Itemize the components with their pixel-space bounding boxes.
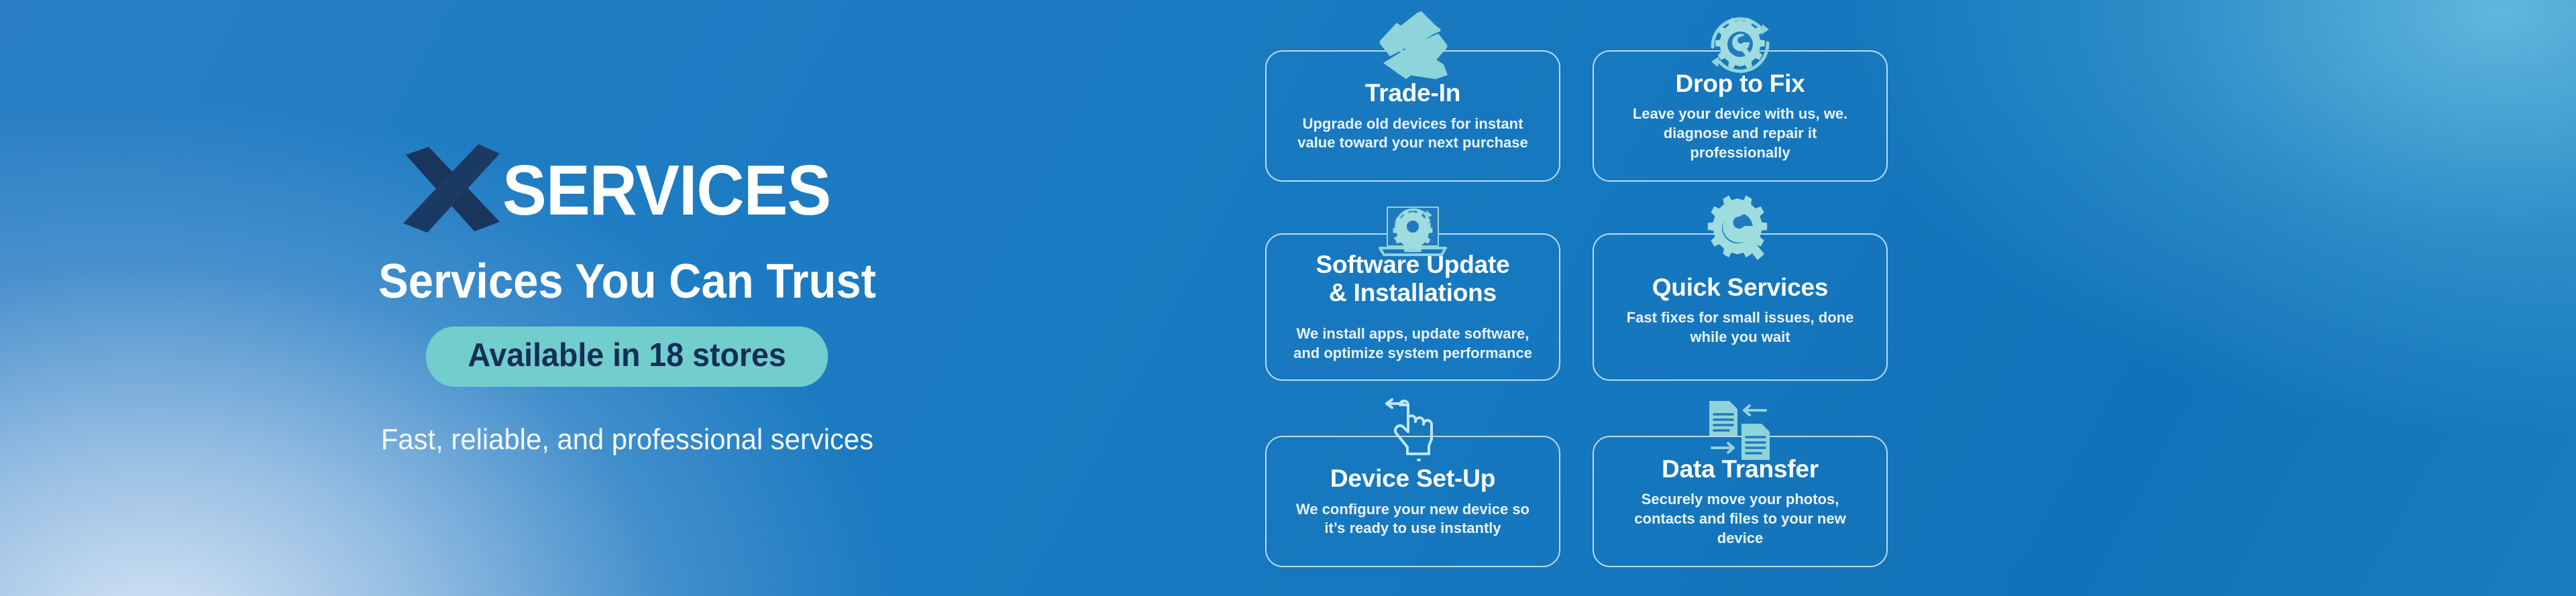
icon-backdrop-data-transfer xyxy=(1695,433,1786,440)
card-description: Upgrade old devices for instant value to… xyxy=(1287,115,1539,153)
services-card-grid: Trade-In Upgrade old devices for instant… xyxy=(1261,0,2576,596)
page-title: Services You Can Trust xyxy=(44,257,1210,306)
status-badge: Available in 18 stores xyxy=(426,326,828,387)
card-title: Software Update & Installations xyxy=(1316,251,1510,306)
card-description: We configure your new device so it’s rea… xyxy=(1287,500,1539,538)
card-content: Quick Services Fast fixes for small issu… xyxy=(1594,235,1886,379)
card-description: Securely move your photos, contacts and … xyxy=(1614,490,1866,548)
icon-backdrop-drop-to-fix xyxy=(1695,48,1786,54)
card-title-line-1: Software Update xyxy=(1316,251,1510,278)
card-title: Device Set-Up xyxy=(1330,465,1495,492)
card-description: We install apps, update software, and op… xyxy=(1287,324,1539,363)
icon-backdrop-device-setup xyxy=(1367,433,1458,440)
service-card-trade-in[interactable]: Trade-In Upgrade old devices for instant… xyxy=(1265,50,1560,182)
hero-panel: SERVICES Services You Can Trust Availabl… xyxy=(0,0,1254,596)
card-description: Leave your device with us, we. diagnose … xyxy=(1614,105,1866,162)
card-title: Quick Services xyxy=(1652,274,1829,301)
icon-backdrop-quick-services xyxy=(1695,231,1786,237)
card-content: Trade-In Upgrade old devices for instant… xyxy=(1267,52,1559,180)
page-subtitle: Fast, reliable, and professional service… xyxy=(32,425,1224,455)
card-title: Trade-In xyxy=(1365,79,1460,107)
card-title-line-2: & Installations xyxy=(1316,279,1510,306)
card-content: Drop to Fix Leave your device with us, w… xyxy=(1594,52,1886,180)
service-card-software-update[interactable]: Software Update & Installations We insta… xyxy=(1265,233,1560,381)
service-card-drop-to-fix[interactable]: Drop to Fix Leave your device with us, w… xyxy=(1593,50,1888,182)
availability-badge-wrap: Available in 18 stores xyxy=(0,326,1254,387)
brand-logo: SERVICES xyxy=(0,142,1254,233)
brand-wordmark: SERVICES xyxy=(502,155,830,226)
card-content: Data Transfer Securely move your photos,… xyxy=(1594,437,1886,566)
service-card-data-transfer[interactable]: Data Transfer Securely move your photos,… xyxy=(1593,436,1888,567)
x-mark-logo-icon xyxy=(399,137,506,238)
icon-backdrop-software-update xyxy=(1367,231,1458,237)
service-card-device-setup[interactable]: Device Set-Up We configure your new devi… xyxy=(1265,436,1560,567)
service-card-quick-services[interactable]: Quick Services Fast fixes for small issu… xyxy=(1593,233,1888,381)
card-content: Software Update & Installations We insta… xyxy=(1267,235,1559,379)
services-banner: SERVICES Services You Can Trust Availabl… xyxy=(0,0,2576,596)
card-content: Device Set-Up We configure your new devi… xyxy=(1267,437,1559,566)
card-title: Drop to Fix xyxy=(1675,70,1805,97)
card-title: Data Transfer xyxy=(1662,455,1819,483)
icon-backdrop-trade-in xyxy=(1367,48,1458,54)
card-description: Fast fixes for small issues, done while … xyxy=(1614,308,1866,347)
